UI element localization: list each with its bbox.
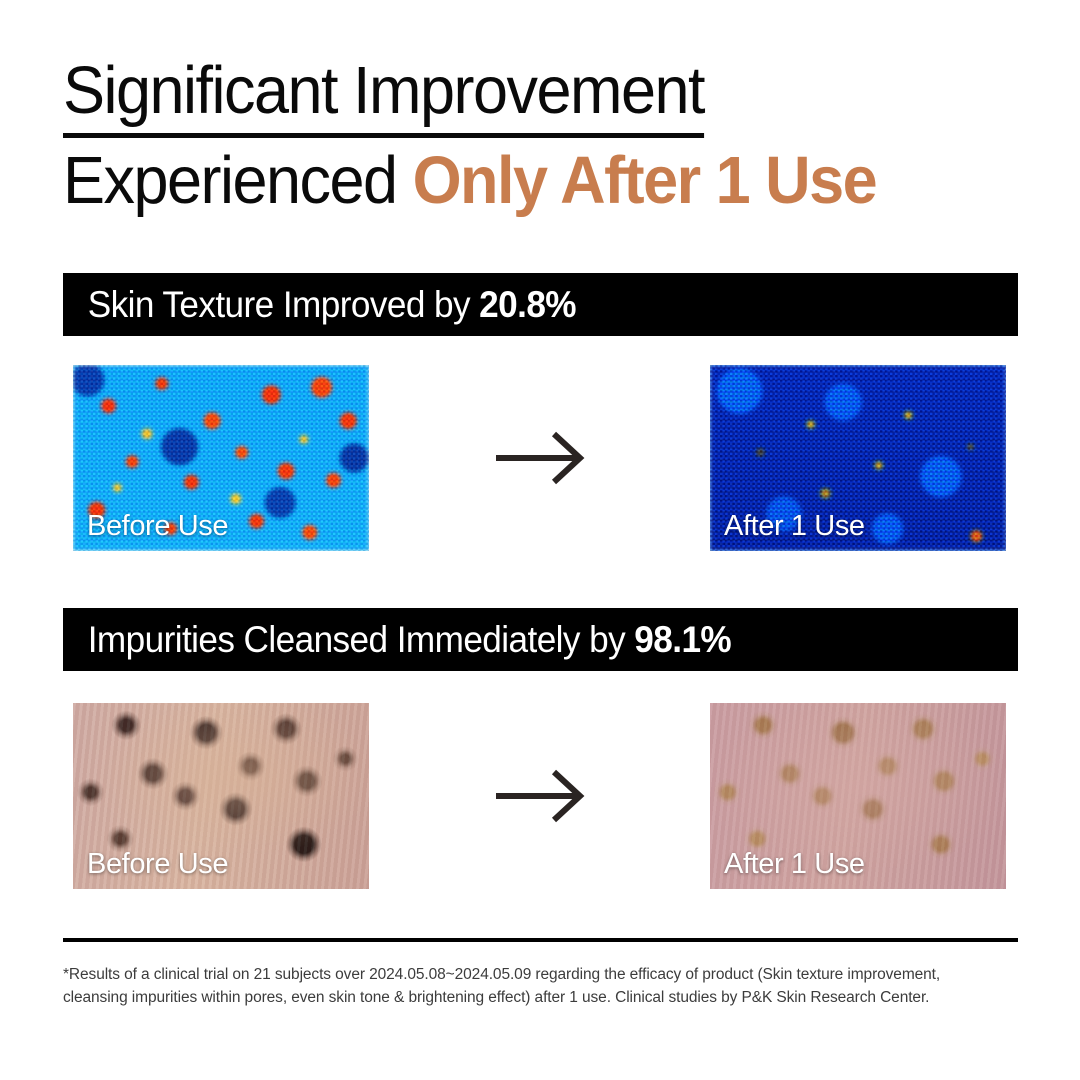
after-image-pores: After 1 Use bbox=[710, 703, 1006, 889]
footnote-text: *Results of a clinical trial on 21 subje… bbox=[63, 963, 993, 1009]
before-image-skin-texture: Before Use bbox=[73, 365, 369, 551]
stat-banner-text: Impurities Cleansed Immediately by 98.1% bbox=[63, 619, 731, 661]
arrow-right-icon bbox=[485, 765, 595, 827]
before-image-pores: Before Use bbox=[73, 703, 369, 889]
headline-accent-text: Only After 1 Use bbox=[413, 143, 877, 218]
headline-prefix-text: Experienced bbox=[63, 143, 413, 218]
stat-label: Skin Texture Improved by bbox=[88, 284, 479, 325]
stat-banner-text: Skin Texture Improved by 20.8% bbox=[63, 284, 576, 326]
headline-line-2: Experienced Only After 1 Use bbox=[63, 142, 984, 220]
before-image-label: Before Use bbox=[87, 848, 228, 881]
stat-value: 20.8% bbox=[479, 284, 576, 325]
headline-line-1: Significant Improvement bbox=[63, 52, 984, 130]
stat-label: Impurities Cleansed Immediately by bbox=[88, 619, 635, 660]
after-image-skin-texture: After 1 Use bbox=[710, 365, 1006, 551]
stat-value: 98.1% bbox=[634, 619, 731, 660]
infographic-page: Significant Improvement Experienced Only… bbox=[0, 0, 1080, 1080]
stat-banner-skin-texture: Skin Texture Improved by 20.8% bbox=[63, 273, 1018, 336]
after-image-label: After 1 Use bbox=[724, 510, 865, 543]
comparison-row-skin-texture: Before Use After 1 Use bbox=[73, 365, 1006, 551]
before-image-label: Before Use bbox=[87, 510, 228, 543]
headline-underlined-text: Significant Improvement bbox=[63, 53, 704, 138]
after-image-label: After 1 Use bbox=[724, 848, 865, 881]
stat-banner-impurities: Impurities Cleansed Immediately by 98.1% bbox=[63, 608, 1018, 671]
footer-divider bbox=[63, 938, 1018, 942]
headline: Significant Improvement Experienced Only… bbox=[63, 52, 1043, 220]
arrow-right-icon bbox=[485, 427, 595, 489]
comparison-row-impurities: Before Use After 1 Use bbox=[73, 703, 1006, 889]
